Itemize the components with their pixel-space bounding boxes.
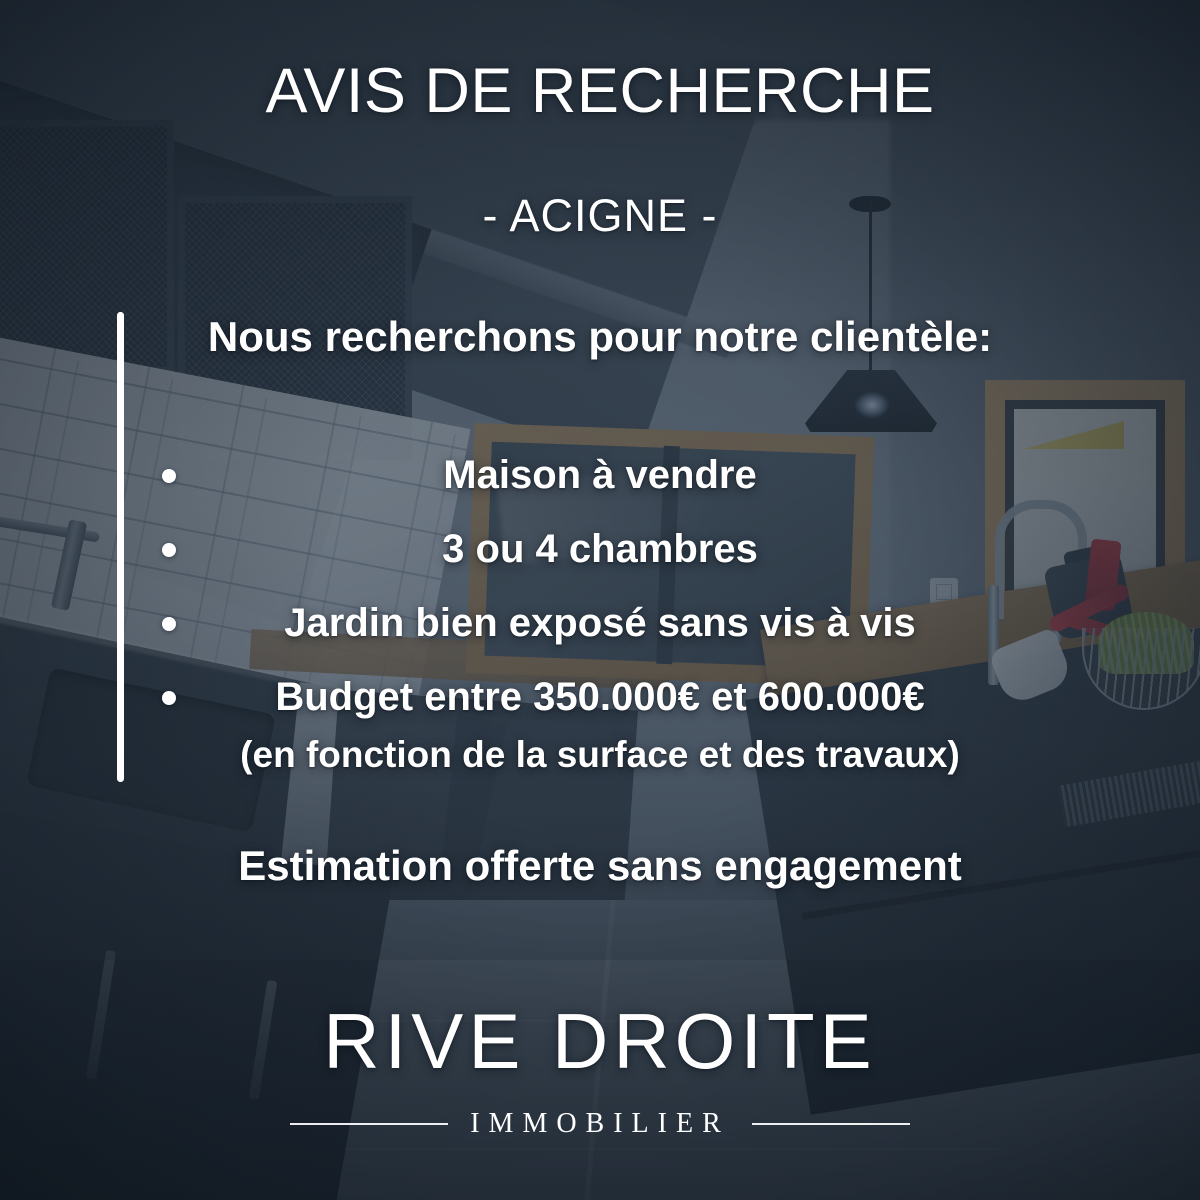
lead-text: Nous recherchons pour notre clientèle: bbox=[0, 314, 1200, 360]
poster-canvas: AVIS DE RECHERCHE - ACIGNE - Nous recher… bbox=[0, 0, 1200, 1200]
location-subtitle: - ACIGNE - bbox=[0, 192, 1200, 239]
logo-subtitle: IMMOBILIER bbox=[470, 1108, 730, 1140]
bullet-dot-icon bbox=[162, 691, 176, 705]
bullet-dot-icon bbox=[162, 617, 176, 631]
list-item: Maison à vendre bbox=[0, 455, 1200, 495]
list-item-label: Budget entre 350.000€ et 600.000€ bbox=[275, 677, 924, 717]
logo-name: RIVE DROITE bbox=[0, 1002, 1200, 1080]
budget-note: (en fonction de la surface et des travau… bbox=[0, 734, 1200, 776]
logo-rule-left bbox=[290, 1123, 448, 1125]
list-item-label: 3 ou 4 chambres bbox=[442, 529, 758, 569]
tagline: Estimation offerte sans engagement bbox=[0, 842, 1200, 890]
poster-content: AVIS DE RECHERCHE - ACIGNE - Nous recher… bbox=[0, 0, 1200, 1200]
brand-logo: RIVE DROITE IMMOBILIER bbox=[0, 1002, 1200, 1140]
list-item: 3 ou 4 chambres bbox=[0, 529, 1200, 569]
logo-rule-right bbox=[752, 1123, 910, 1125]
list-item: Jardin bien exposé sans vis à vis bbox=[0, 603, 1200, 643]
logo-subtitle-row: IMMOBILIER bbox=[0, 1108, 1200, 1140]
page-title: AVIS DE RECHERCHE bbox=[0, 58, 1200, 124]
bullet-dot-icon bbox=[162, 543, 176, 557]
bullet-dot-icon bbox=[162, 469, 176, 483]
list-item: Budget entre 350.000€ et 600.000€ bbox=[0, 677, 1200, 717]
list-item-label: Jardin bien exposé sans vis à vis bbox=[284, 603, 915, 643]
criteria-list: Maison à vendre 3 ou 4 chambres Jardin b… bbox=[0, 455, 1200, 751]
list-item-label: Maison à vendre bbox=[443, 455, 756, 495]
